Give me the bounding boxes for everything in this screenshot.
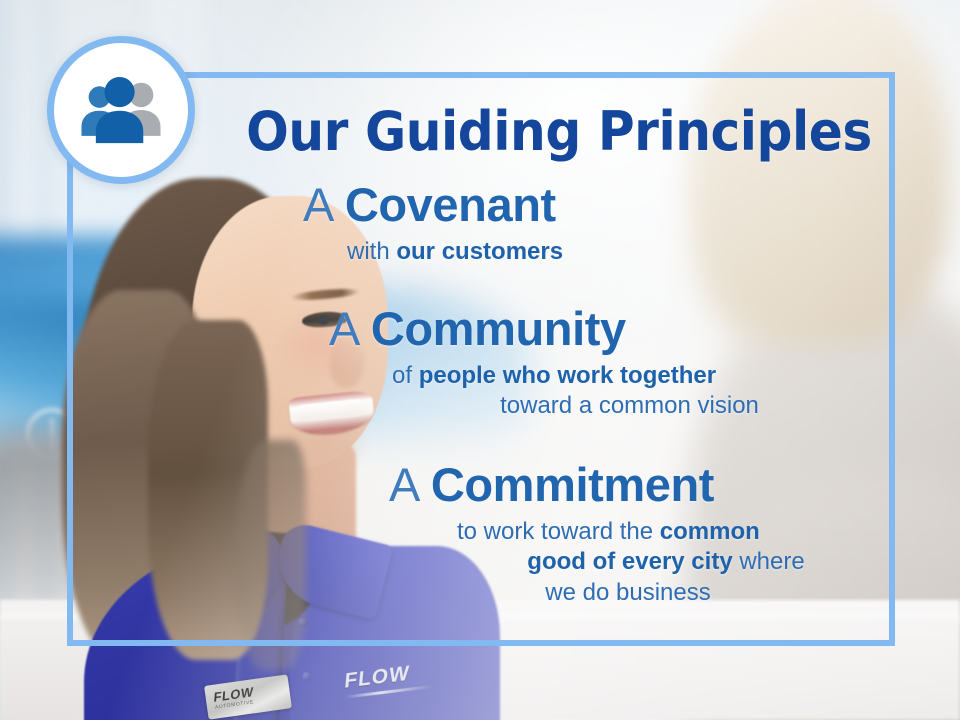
detail-plain: where	[733, 548, 805, 575]
principle-keyword: Commitment	[431, 458, 714, 511]
principle-detail: with our customers	[67, 237, 895, 268]
detail-line: of people who work together	[392, 361, 895, 392]
detail-plain: to work toward the	[457, 518, 660, 545]
principle-block-covenant: A Covenant with our customers	[67, 180, 895, 267]
principle-keyword: Community	[371, 302, 626, 355]
principle-article: A	[303, 178, 332, 231]
detail-line: with our customers	[347, 237, 895, 268]
poster-content: Our Guiding Principles A Covenant with o…	[67, 72, 895, 646]
principle-headline: A Commitment	[67, 460, 895, 511]
poster-stage: FLOW FLOW AUTOMOTIVE	[0, 0, 960, 720]
detail-line: good of every city where	[457, 547, 895, 578]
principle-article: A	[329, 302, 358, 355]
detail-bold: common	[660, 518, 760, 545]
principle-headline: A Community	[67, 304, 895, 355]
principle-detail: of people who work together toward a com…	[67, 361, 895, 422]
principle-article: A	[389, 458, 418, 511]
detail-bold: people who work together	[419, 362, 716, 389]
principle-headline: A Covenant	[67, 180, 895, 231]
detail-line: toward a common vision	[392, 391, 895, 422]
detail-bold: good of every city	[527, 548, 732, 575]
detail-bold: our customers	[396, 238, 563, 265]
detail-plain: with	[347, 238, 396, 265]
page-title: Our Guiding Principles	[243, 100, 875, 163]
detail-line: we do business	[457, 578, 895, 609]
principle-detail: to work toward the common good of every …	[67, 517, 895, 609]
principle-block-community: A Community of people who work together …	[67, 304, 895, 422]
detail-plain: toward a common vision	[500, 392, 759, 419]
principle-block-commitment: A Commitment to work toward the common g…	[67, 460, 895, 609]
detail-line: to work toward the common	[457, 517, 895, 548]
principle-keyword: Covenant	[345, 178, 556, 231]
detail-plain: of	[392, 362, 419, 389]
detail-plain: we do business	[545, 579, 710, 606]
